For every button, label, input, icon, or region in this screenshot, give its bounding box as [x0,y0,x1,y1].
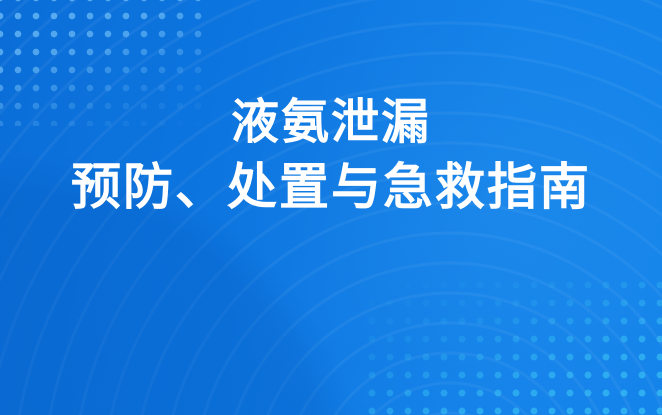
dot-grid-bottom-right-decoration [368,281,662,415]
title-banner: 液氨泄漏 预防、处置与急救指南 [0,0,662,415]
title-line-secondary: 预防、处置与急救指南 [0,159,662,215]
title-line-primary: 液氨泄漏 [0,96,662,150]
page-title: 液氨泄漏 预防、处置与急救指南 [0,96,662,215]
